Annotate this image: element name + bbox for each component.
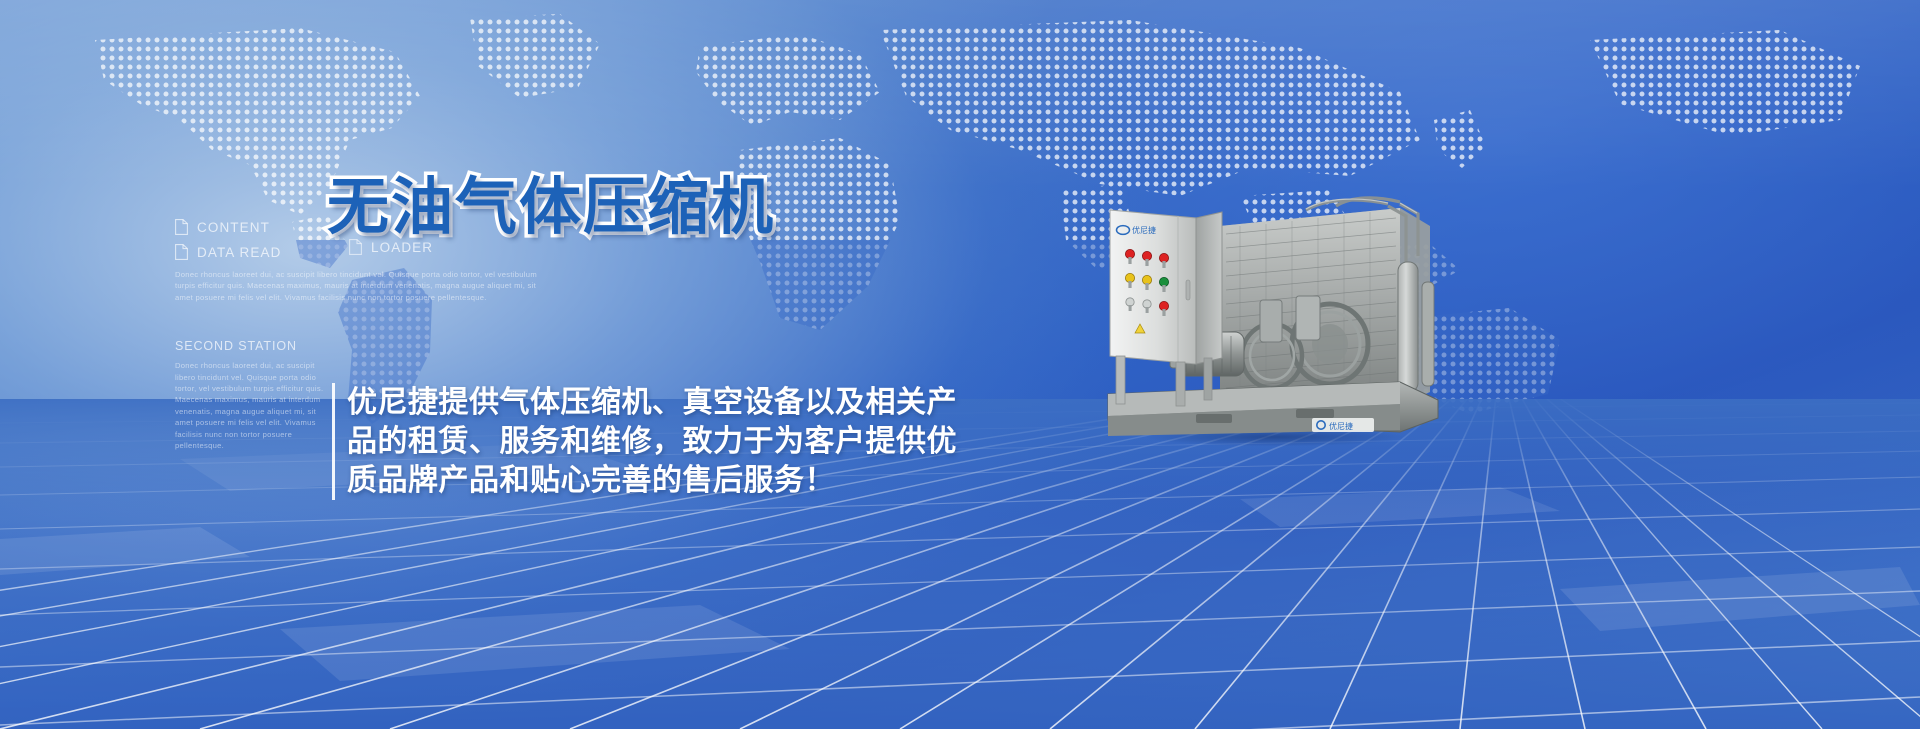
banner-title: 无油气体压缩机 bbox=[327, 176, 775, 238]
decor-label-data-read: DATA READ bbox=[197, 245, 281, 260]
decor-paragraph-secondary: Donec rhoncus laoreet dui, ac suscipit l… bbox=[175, 360, 327, 451]
hero-banner: CONTENT DATA READ Donec rhoncus laoreet … bbox=[0, 0, 1920, 729]
svg-text:优尼捷: 优尼捷 bbox=[1132, 225, 1156, 235]
compressor-machine-image: 优尼捷 优尼捷 bbox=[1100, 196, 1445, 446]
banner-description: 优尼捷提供气体压缩机、真空设备以及相关产品的租赁、服务和维修，致力于为客户提供优… bbox=[332, 383, 972, 500]
decor-label-content: CONTENT bbox=[197, 220, 270, 235]
svg-text:优尼捷: 优尼捷 bbox=[1329, 421, 1353, 431]
decor-paragraph-primary: Donec rhoncus laoreet dui, ac suscipit l… bbox=[175, 269, 545, 303]
decor-section-label: SECOND STATION bbox=[175, 339, 390, 353]
document-icon bbox=[175, 219, 188, 235]
document-icon bbox=[175, 244, 188, 260]
